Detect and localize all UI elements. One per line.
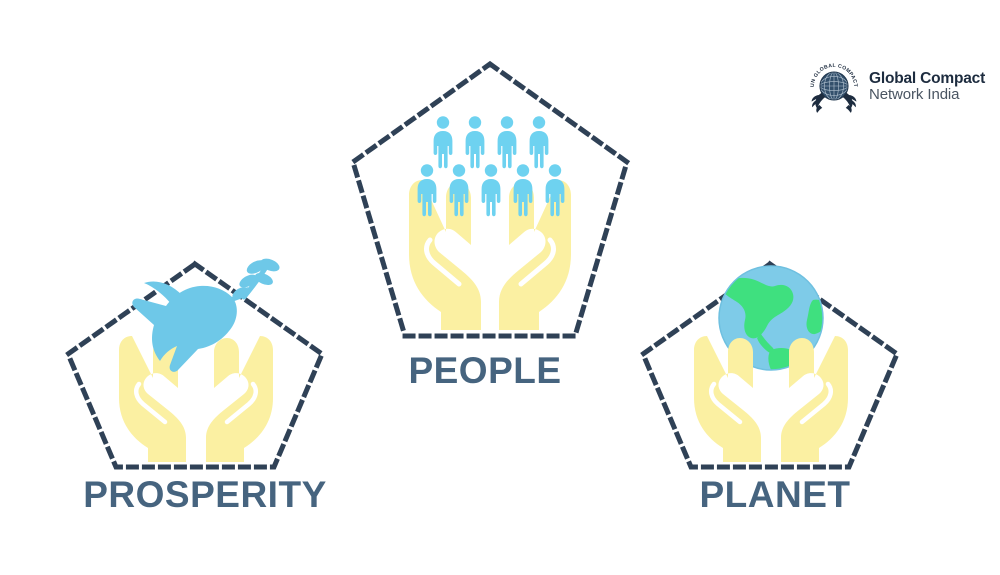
pillar-label-people: PEOPLE: [345, 350, 625, 392]
pillar-label-planet: PLANET: [635, 474, 915, 516]
un-global-compact-emblem-icon: UN GLOBAL COMPACT: [806, 58, 862, 114]
infographic-canvas: UN GLOBAL COMPACT Global Compact Network…: [0, 0, 1000, 575]
pillar-prosperity[interactable]: [60, 258, 330, 473]
pillar-planet[interactable]: [635, 258, 905, 473]
people-front-row: [418, 164, 565, 216]
people-back-row: [434, 116, 549, 168]
logo-title: Global Compact: [869, 71, 985, 88]
cupped-hands-icon: [683, 326, 859, 462]
pillar-label-prosperity: PROSPERITY: [60, 474, 350, 516]
organization-logo: UN GLOBAL COMPACT Global Compact Network…: [806, 58, 985, 114]
people-figures-icon: [413, 116, 569, 222]
pillar-people[interactable]: [345, 58, 635, 343]
dove-with-olive-branch-icon: [120, 253, 280, 378]
logo-subtitle: Network India: [869, 87, 985, 103]
